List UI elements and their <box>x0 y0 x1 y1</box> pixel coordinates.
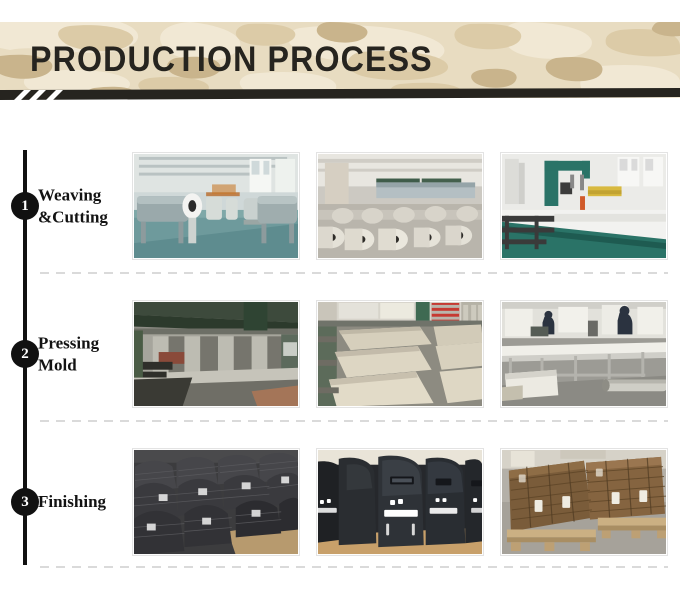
step-separator-1 <box>40 272 668 274</box>
cutting-machine-photo[interactable] <box>500 152 668 260</box>
step-3-thumbnails <box>132 448 668 556</box>
step-2-thumbnails <box>132 300 668 408</box>
step-number-badge-1: 1 <box>11 192 39 220</box>
step-separator-3 <box>40 566 668 568</box>
step-row-weaving-cutting: 1 Weaving &Cutting <box>0 152 680 260</box>
step-label-2-line1: Pressing <box>38 332 130 354</box>
fabric-rolls-photo[interactable] <box>316 152 484 260</box>
step-label-2: Pressing Mold <box>38 332 130 376</box>
production-steps-list: 1 Weaving &Cutting <box>0 0 680 607</box>
step-number-2: 2 <box>21 346 29 363</box>
step-label-1: Weaving &Cutting <box>38 184 130 228</box>
step-number-badge-2: 2 <box>11 340 39 368</box>
step-row-finishing: 3 Finishing <box>0 448 680 556</box>
weaving-workshop-photo[interactable] <box>132 152 300 260</box>
step-label-2-line2: Mold <box>38 354 130 376</box>
step-label-1-line1: Weaving <box>38 184 130 206</box>
packed-cartons-pallets-photo[interactable] <box>500 448 668 556</box>
press-mold-trays-photo[interactable] <box>316 300 484 408</box>
workshop-tables-photo[interactable] <box>500 300 668 408</box>
step-label-1-line2: &Cutting <box>38 206 130 228</box>
hydraulic-press-photo[interactable] <box>132 300 300 408</box>
step-separator-2 <box>40 420 668 422</box>
step-number-badge-3: 3 <box>11 488 39 516</box>
ballistic-panels-stack-photo[interactable] <box>132 448 300 556</box>
step-number-3: 3 <box>21 494 29 511</box>
step-label-3-line1: Finishing <box>38 491 130 513</box>
step-1-thumbnails <box>132 152 668 260</box>
step-number-1: 1 <box>21 198 29 215</box>
step-label-3: Finishing <box>38 491 130 513</box>
police-riot-shields-photo[interactable] <box>316 448 484 556</box>
step-row-pressing-mold: 2 Pressing Mold <box>0 300 680 408</box>
